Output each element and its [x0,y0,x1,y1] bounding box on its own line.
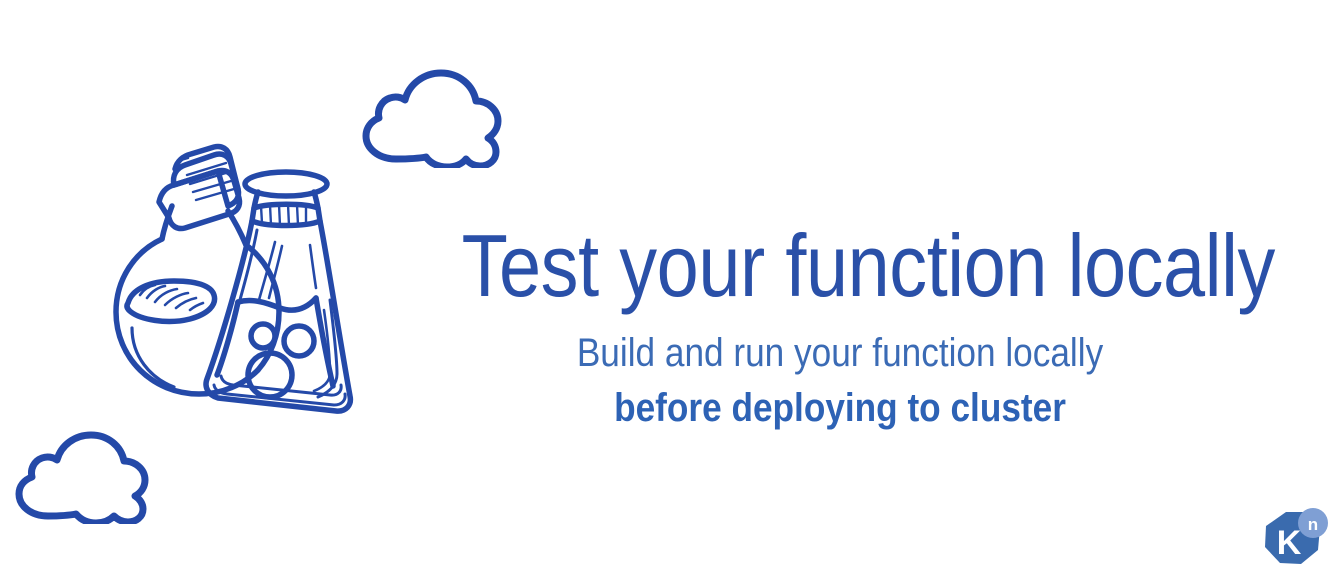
subtitle-line-2: before deploying to cluster [453,383,1227,434]
cloud-icon [352,62,510,168]
subtitle-line-1: Build and run your function locally [453,328,1227,379]
slide-canvas: Test your function locally Build and run… [0,0,1341,585]
knative-logo: K n [1256,506,1328,576]
knative-logo-letter-n: n [1308,515,1318,534]
laboratory-flasks-illustration [62,142,392,420]
cloud-icon [6,424,156,524]
headline-block: Test your function locally Build and run… [400,222,1280,434]
knative-logo-letter-k: K [1277,524,1302,562]
page-title: Test your function locally [462,222,1219,310]
